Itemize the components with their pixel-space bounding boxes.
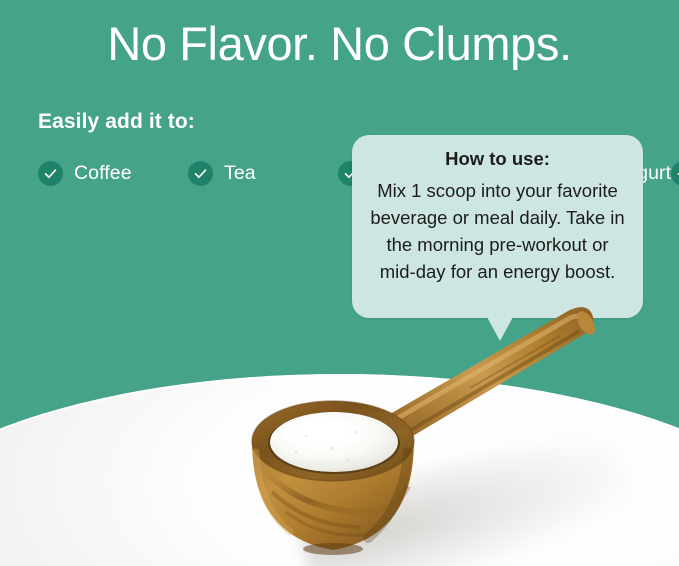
callout-title: How to use:	[366, 147, 629, 171]
white-surface	[0, 374, 679, 566]
list-item: Coffee	[38, 161, 188, 186]
page-title: No Flavor. No Clumps.	[0, 16, 679, 71]
checkmark-icon	[188, 161, 213, 186]
callout-tail-icon	[487, 317, 513, 341]
product-infographic: No Flavor. No Clumps. Easily add it to: …	[0, 0, 679, 566]
how-to-use-callout: How to use: Mix 1 scoop into your favori…	[352, 135, 643, 318]
callout-body: Mix 1 scoop into your favorite beverage …	[366, 177, 629, 285]
list-item-label: Coffee	[74, 162, 132, 185]
checklist: Coffee Tea Water Milk Juice	[38, 151, 348, 195]
checklist-heading: Easily add it to:	[38, 110, 195, 134]
checkmark-icon	[38, 161, 63, 186]
list-item: Eggs	[671, 161, 679, 186]
list-item: Tea	[188, 161, 338, 186]
checkmark-icon	[671, 161, 679, 186]
list-item-label: Tea	[224, 162, 256, 185]
